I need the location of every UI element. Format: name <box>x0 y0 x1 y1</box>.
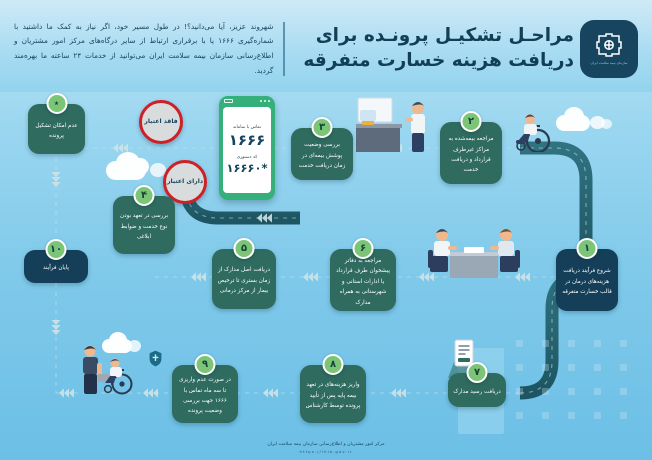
node-step-5[interactable]: ۵ دریافت اصل مدارک از زمان بستری تا ترخی… <box>212 249 276 309</box>
node-step-8[interactable]: ۸ واریز هزینه‌های در تعهد بیمه پایه پس ا… <box>300 365 366 423</box>
node-badge-6: ۶ <box>353 238 374 259</box>
node-step-7[interactable]: ۷ دریافت رسید مدارک <box>448 373 506 407</box>
node-step-8-label: واریز هزینه‌های در تعهد بیمه پایه پس از … <box>305 380 361 411</box>
node-step-2-label: مراجعه بیمه‌شده به مراکز غیرطرف قرارداد … <box>445 134 497 175</box>
node-badge-4: ۴ <box>134 185 155 206</box>
decorative-dot-grid <box>512 336 642 434</box>
node-badge-5: ۵ <box>234 238 255 259</box>
node-no-case-possible[interactable]: ٭ عدم امکان تشکیل پرونده <box>28 104 85 154</box>
hotline-phone-card: تماس با سامانه ۱۶۶۶ کد دستوری *۱۶۶۶۰ <box>219 96 275 200</box>
ussd-caption: کد دستوری <box>237 155 258 160</box>
ihio-emblem-icon <box>594 32 624 58</box>
decision-stamp-invalid[interactable]: فاقد اعتبار <box>139 100 183 144</box>
node-badge-8: ۸ <box>323 354 344 375</box>
page-title-line-1: مراحـل تشکیـل پرونـده برای <box>303 24 574 49</box>
battery-icon <box>224 99 233 102</box>
reception-desk-scene <box>356 96 452 152</box>
wheelchair-user <box>504 112 564 152</box>
decision-stamp-invalid-label: فاقد اعتبار <box>144 117 177 127</box>
node-badge-9: ۹ <box>195 354 216 375</box>
node-badge-asterisk: ٭ <box>46 93 67 114</box>
node-step-9[interactable]: ۹ در صورت عدم واریزی تا سه ماه تماس با ۱… <box>172 365 238 423</box>
footer-url[interactable]: https://ihio.gov.ir <box>300 449 353 454</box>
node-step-9-label: در صورت عدم واریزی تا سه ماه تماس با ۱۶۶… <box>177 375 233 416</box>
node-badge-7: ۷ <box>467 362 488 383</box>
node-no-case-possible-label: عدم امکان تشکیل پرونده <box>33 121 80 142</box>
signal-dots-icon <box>260 100 270 102</box>
node-step-3-label: بررسی وضعیت پوشش بیمه‌ای در زمان دریافت … <box>296 140 348 171</box>
cloud-icon <box>98 150 172 180</box>
node-step-6-label: مراجعه به دفاتر پیشخوان طرف قرارداد یا ا… <box>335 256 391 308</box>
ussd-code: *۱۶۶۶۰ <box>226 161 267 175</box>
node-step-4[interactable]: ۴ بررسی در تعهد بودن نوع خدمت و ضوابط اب… <box>113 196 175 254</box>
infographic-canvas: تماس با سامانه ۱۶۶۶ کد دستوری *۱۶۶۶۰ فاق… <box>0 0 652 460</box>
call-caption: تماس با سامانه <box>233 125 261 130</box>
node-badge-3: ۳ <box>312 117 333 138</box>
decision-stamp-valid-label: دارای اعتبار <box>167 177 203 187</box>
node-step-10[interactable]: ۱۰ پایان فرآیند <box>24 250 88 283</box>
consultation-desk-scene <box>420 220 528 282</box>
header: سازمان بیمه سلامت ایران مراحـل تشکیـل پر… <box>0 0 652 92</box>
node-step-4-label: بررسی در تعهد بودن نوع خدمت و ضوابط ابلا… <box>118 211 170 242</box>
hotline-number: ۱۶۶۶ <box>229 131 266 149</box>
intro-paragraph: شهروند عزیز، آیا می‌دانید؟! در طول مسیر … <box>14 20 273 78</box>
logo-subtitle: سازمان بیمه سلامت ایران <box>590 61 627 65</box>
node-step-3[interactable]: ۳ بررسی وضعیت پوشش بیمه‌ای در زمان دریاف… <box>291 128 353 180</box>
node-badge-2: ۲ <box>461 111 482 132</box>
node-step-1[interactable]: ۱ شروع فرآیند دریافت هزینه‌های درمان در … <box>556 249 618 311</box>
node-step-1-label: شروع فرآیند دریافت هزینه‌های درمان در قا… <box>561 266 613 297</box>
phone-screen: تماس با سامانه ۱۶۶۶ کد دستوری *۱۶۶۶۰ <box>223 107 271 193</box>
footer: مرکز امور مشتریان و اطلاع‌رسانی سازمان ب… <box>0 436 652 460</box>
organization-logo: سازمان بیمه سلامت ایران <box>580 20 638 78</box>
node-step-2[interactable]: ۲ مراجعه بیمه‌شده به مراکز غیرطرف قراردا… <box>440 122 502 184</box>
node-badge-1: ۱ <box>577 238 598 259</box>
page-title: مراحـل تشکیـل پرونـده برای دریافت هزینه … <box>303 24 574 74</box>
node-step-7-label: دریافت رسید مدارک <box>453 387 501 397</box>
node-badge-10: ۱۰ <box>46 239 67 260</box>
footer-org: مرکز امور مشتریان و اطلاع‌رسانی سازمان ب… <box>267 442 384 447</box>
client-with-briefcase <box>76 342 148 398</box>
node-step-5-label: دریافت اصل مدارک از زمان بستری تا ترخیص … <box>217 265 271 296</box>
health-shield-icon <box>149 350 162 367</box>
node-step-6[interactable]: ۶ مراجعه به دفاتر پیشخوان طرف قرارداد یا… <box>330 249 396 311</box>
header-divider <box>283 22 285 76</box>
node-step-10-label: پایان فرآیند <box>29 263 83 273</box>
phone-status-bar <box>219 96 275 106</box>
page-title-line-2: دریافت هزینه خسارت متفرقه <box>303 49 574 74</box>
